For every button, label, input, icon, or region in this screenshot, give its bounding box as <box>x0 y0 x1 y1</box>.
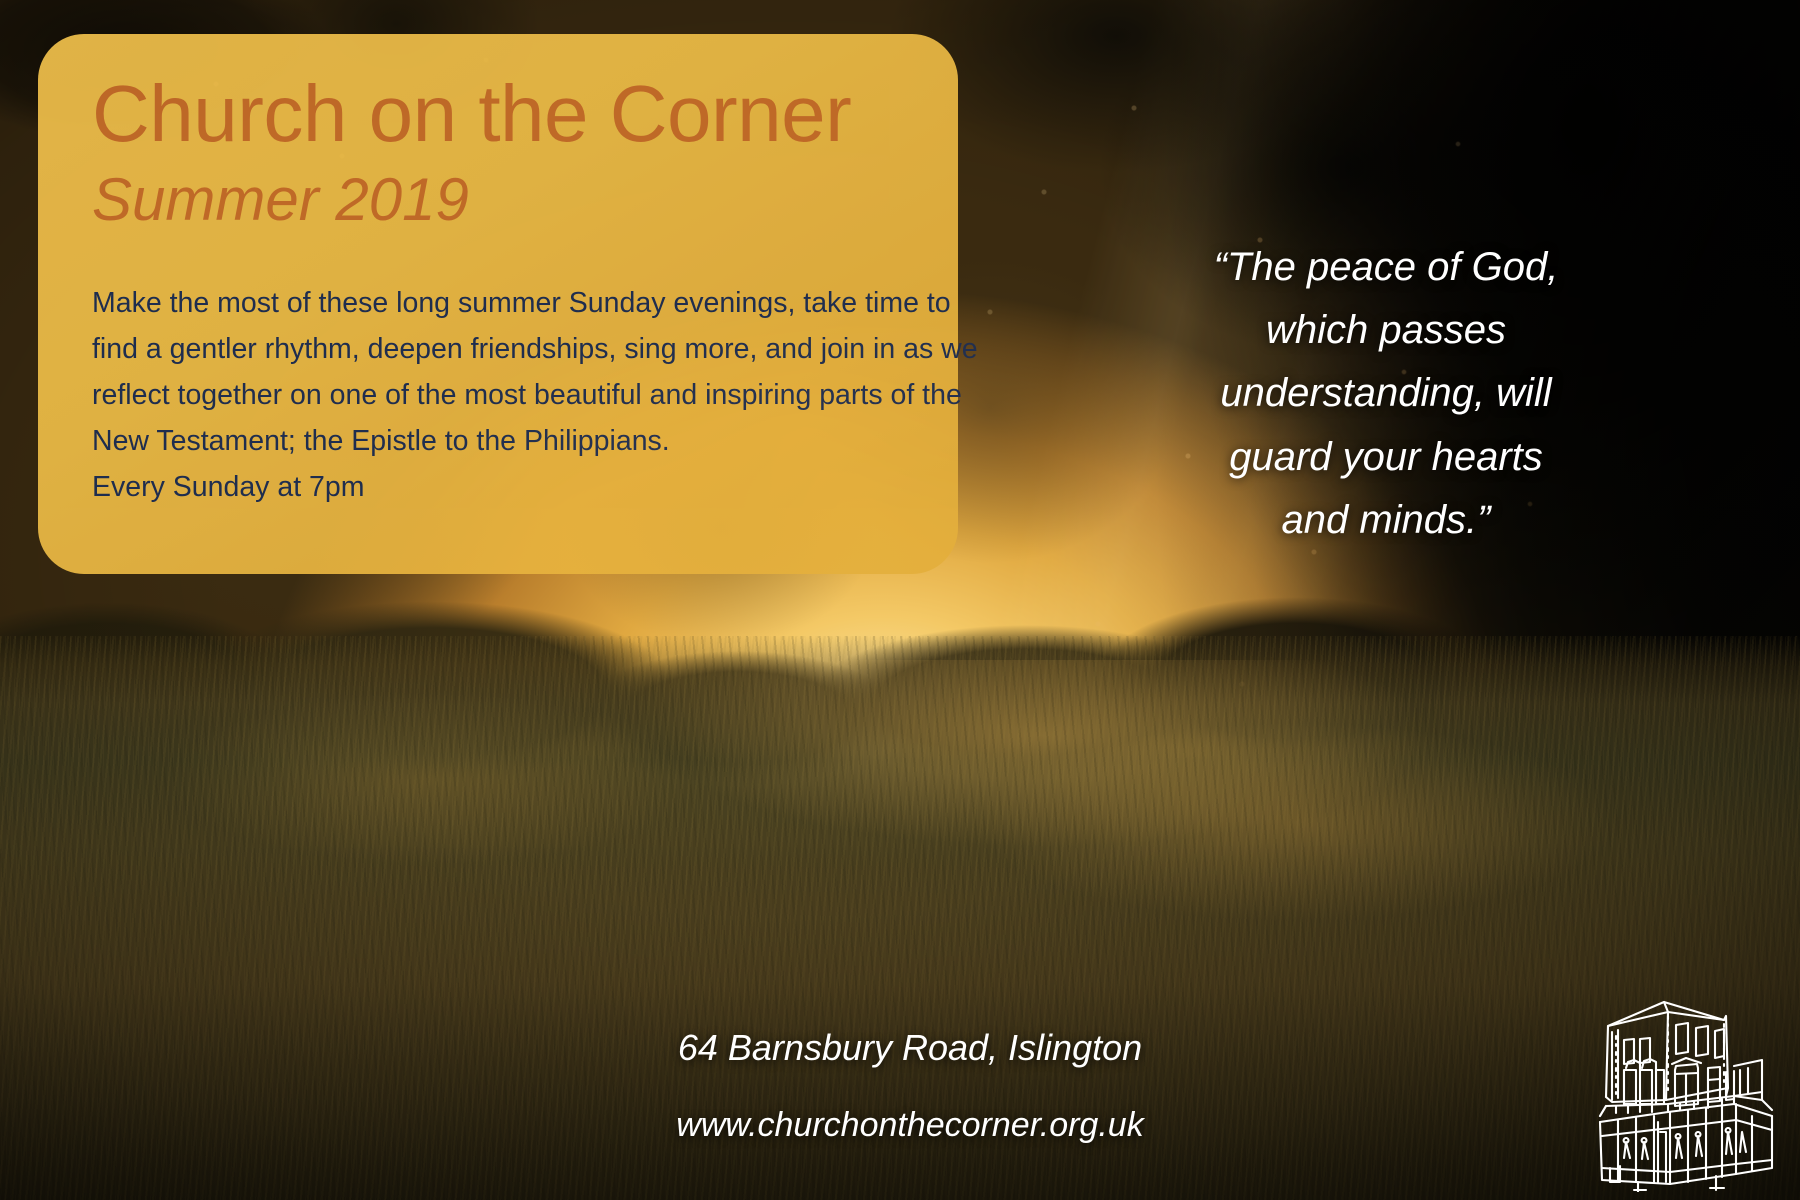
panel-body-line: New Testament; the Epistle to the Philip… <box>92 418 904 464</box>
corner-building-icon <box>1576 992 1792 1192</box>
quote-line: understanding, will <box>1186 362 1586 425</box>
panel-body-line: find a gentler rhythm, deepen friendship… <box>92 326 904 372</box>
panel-body-text: Make the most of these long summer Sunda… <box>92 280 904 511</box>
website-url[interactable]: www.churchonthecorner.org.uk <box>20 1106 1800 1145</box>
address-text: 64 Barnsbury Road, Islington <box>20 1028 1800 1068</box>
page-title: Church on the Corner <box>92 72 904 155</box>
quote-line: and minds.” <box>1186 489 1586 552</box>
quote-line: “The peace of God, <box>1186 236 1586 299</box>
panel-body-line-service-time: Every Sunday at 7pm <box>92 464 904 510</box>
scripture-quote: “The peace of God, which passes understa… <box>1186 236 1586 552</box>
panel-subtitle: Summer 2019 <box>92 169 904 231</box>
poster-canvas: Church on the Corner Summer 2019 Make th… <box>0 0 1800 1200</box>
info-panel: Church on the Corner Summer 2019 Make th… <box>38 34 958 574</box>
panel-body-line: Make the most of these long summer Sunda… <box>92 280 904 326</box>
footer: 64 Barnsbury Road, Islington www.churcho… <box>0 1028 1800 1145</box>
quote-line: guard your hearts <box>1186 426 1586 489</box>
quote-line: which passes <box>1186 299 1586 362</box>
panel-body-line: reflect together on one of the most beau… <box>92 372 904 418</box>
